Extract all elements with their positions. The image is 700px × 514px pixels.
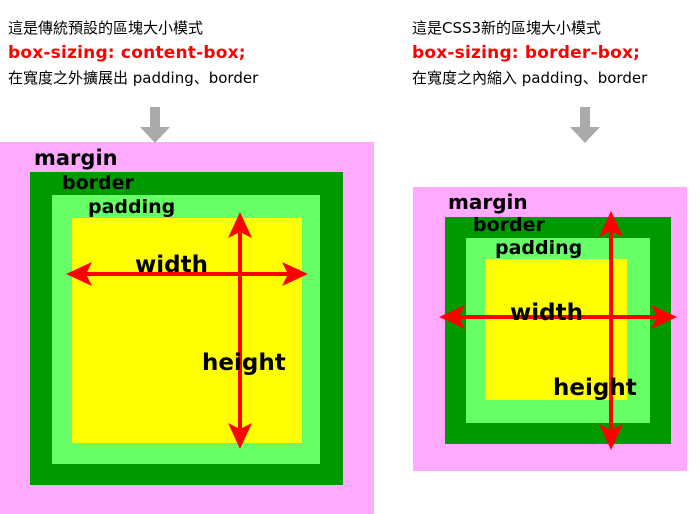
diagram-canvas: 這是傳統預設的區塊大小模式 box-sizing: content-box; 在… xyxy=(0,0,700,514)
box-model-diagram-content-box: margin border padding width height xyxy=(0,142,374,514)
arrow-down-icon xyxy=(568,107,602,143)
dimension-label-height: height xyxy=(202,350,286,376)
dimension-label-width: width xyxy=(135,252,208,278)
caption-left-line3: 在寬度之外擴展出 padding、border xyxy=(8,66,258,91)
caption-right-line1: 這是CSS3新的區塊大小模式 xyxy=(412,16,647,41)
caption-right-code: box-sizing: border-box; xyxy=(412,41,647,66)
dimension-label-height: height xyxy=(553,375,637,401)
label-margin: margin xyxy=(34,146,118,170)
label-margin: margin xyxy=(448,190,528,214)
box-model-diagram-border-box: margin border padding width height xyxy=(413,187,687,471)
label-padding: padding xyxy=(495,237,582,259)
label-border: border xyxy=(473,214,545,236)
caption-content-box: 這是傳統預設的區塊大小模式 box-sizing: content-box; 在… xyxy=(8,16,258,91)
caption-left-line1: 這是傳統預設的區塊大小模式 xyxy=(8,16,258,41)
caption-left-code: box-sizing: content-box; xyxy=(8,41,258,66)
caption-border-box: 這是CSS3新的區塊大小模式 box-sizing: border-box; 在… xyxy=(412,16,647,91)
label-padding: padding xyxy=(88,196,175,218)
caption-right-line3: 在寬度之內縮入 padding、border xyxy=(412,66,647,91)
dimension-label-width: width xyxy=(510,300,583,326)
arrow-down-icon xyxy=(138,107,172,143)
label-border: border xyxy=(62,172,134,194)
